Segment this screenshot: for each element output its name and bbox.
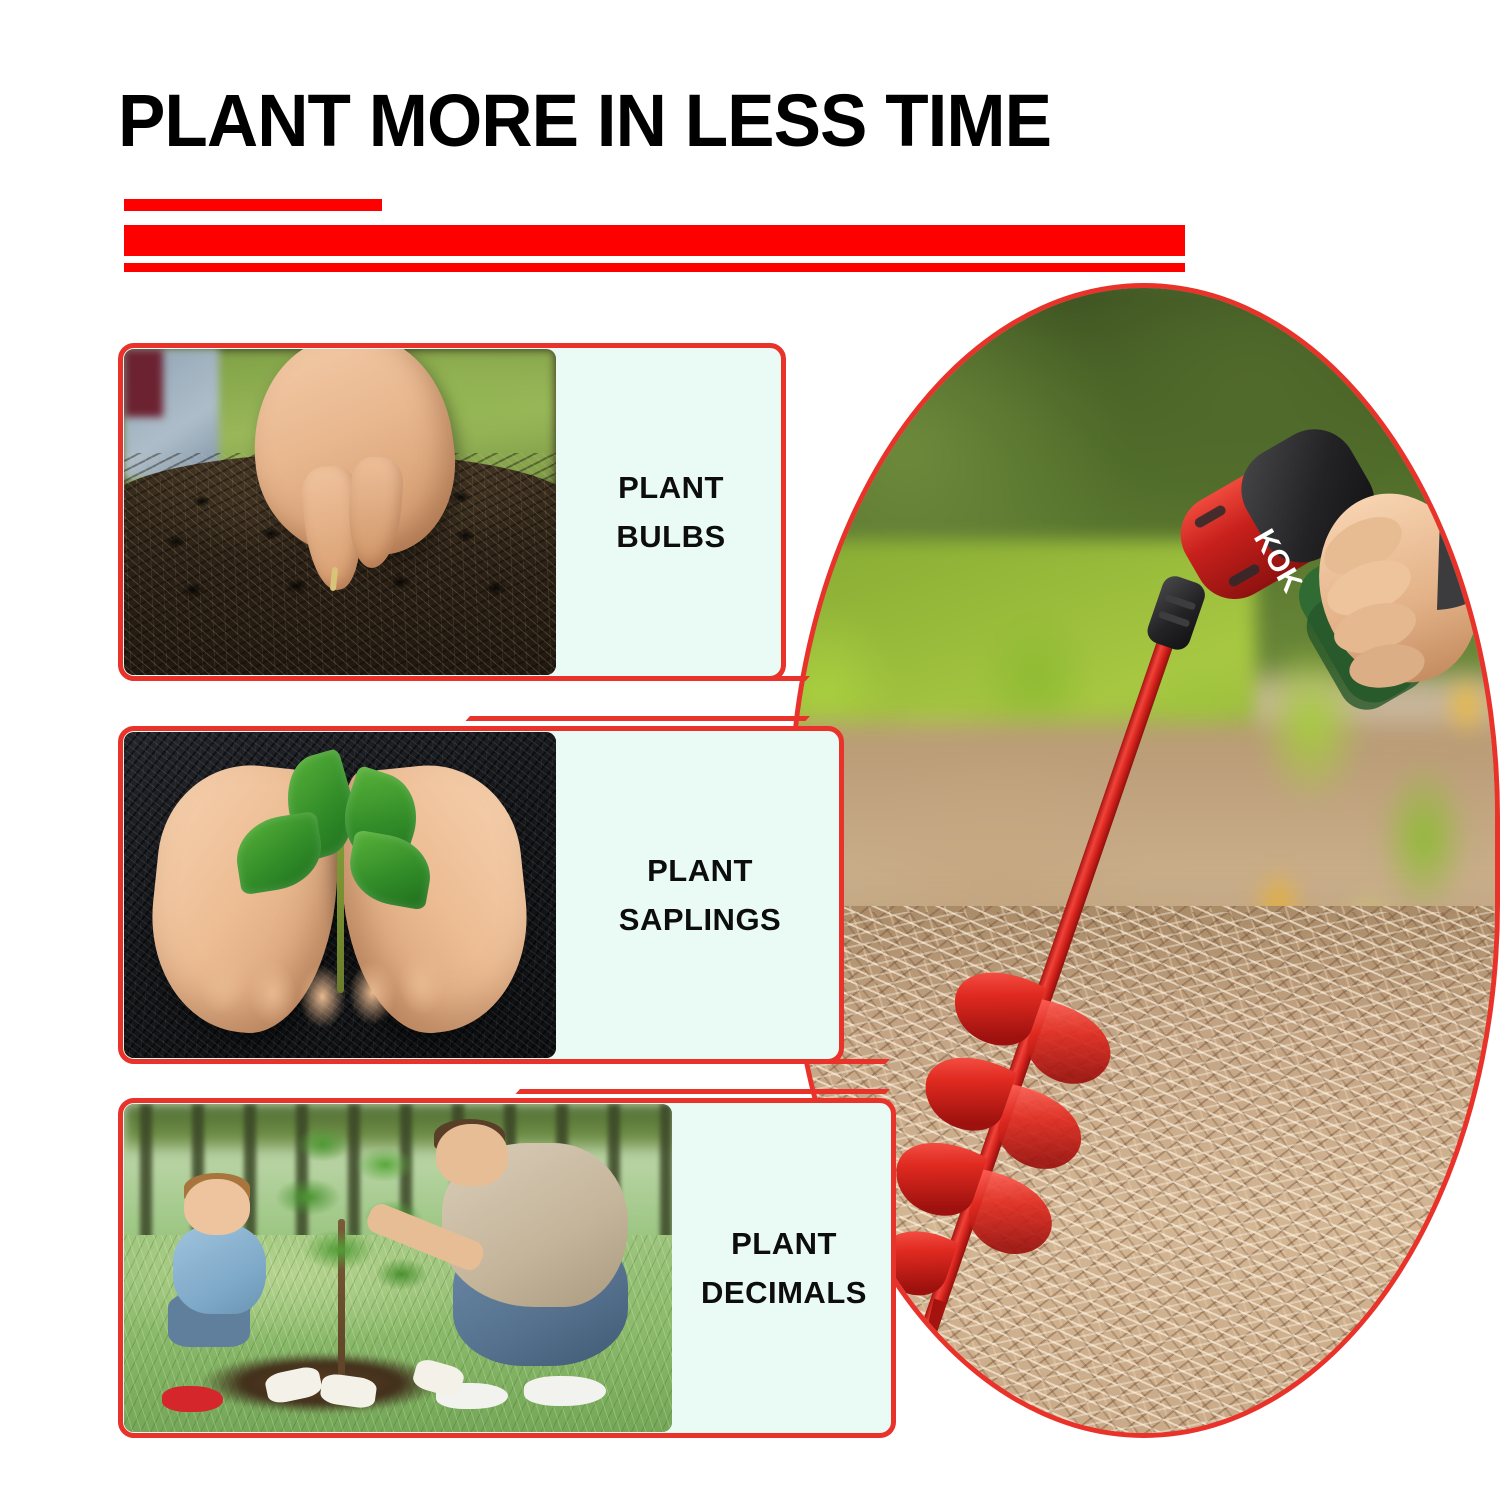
accent-bar-thick (124, 225, 1185, 256)
label-plant-bulbs: PLANT BULBS (562, 349, 780, 675)
accent-bar-thin (124, 263, 1185, 272)
label-line-2: DECIMALS (701, 1277, 867, 1308)
label-plant-decimals: PLANT DECIMALS (678, 1104, 890, 1432)
photo3-man-head (436, 1124, 507, 1186)
photo-plant-decimals (124, 1104, 672, 1432)
feature-row-plant-saplings: PLANT SAPLINGS (118, 726, 844, 1064)
photo3-boy-shoe (162, 1386, 222, 1412)
accent-bar-short (124, 199, 382, 211)
label-line-1: PLANT (647, 855, 753, 886)
photo3-boy-head (184, 1179, 250, 1235)
row-connector-2-bottom (515, 1089, 890, 1094)
page-title: PLANT MORE IN LESS TIME (118, 84, 1051, 158)
label-line-2: SAPLINGS (619, 904, 781, 935)
poster-canvas: PLANT MORE IN LESS TIME (0, 0, 1500, 1500)
label-line-1: PLANT (618, 472, 724, 503)
label-line-2: BULBS (616, 521, 725, 552)
row-connector-1-bottom (465, 716, 810, 721)
photo-plant-saplings (124, 732, 556, 1058)
label-line-1: PLANT (731, 1228, 837, 1259)
feature-row-plant-bulbs: PLANT BULBS (118, 343, 786, 681)
photo3-boy-shirt (173, 1225, 266, 1314)
photo3-man-shoe-right (524, 1376, 606, 1406)
photo1-person-shirt (124, 349, 163, 417)
label-plant-saplings: PLANT SAPLINGS (562, 732, 838, 1058)
feature-row-plant-decimals: PLANT DECIMALS (118, 1098, 896, 1438)
photo2-sapling-stem (337, 843, 344, 993)
photo-plant-bulbs (124, 349, 556, 675)
